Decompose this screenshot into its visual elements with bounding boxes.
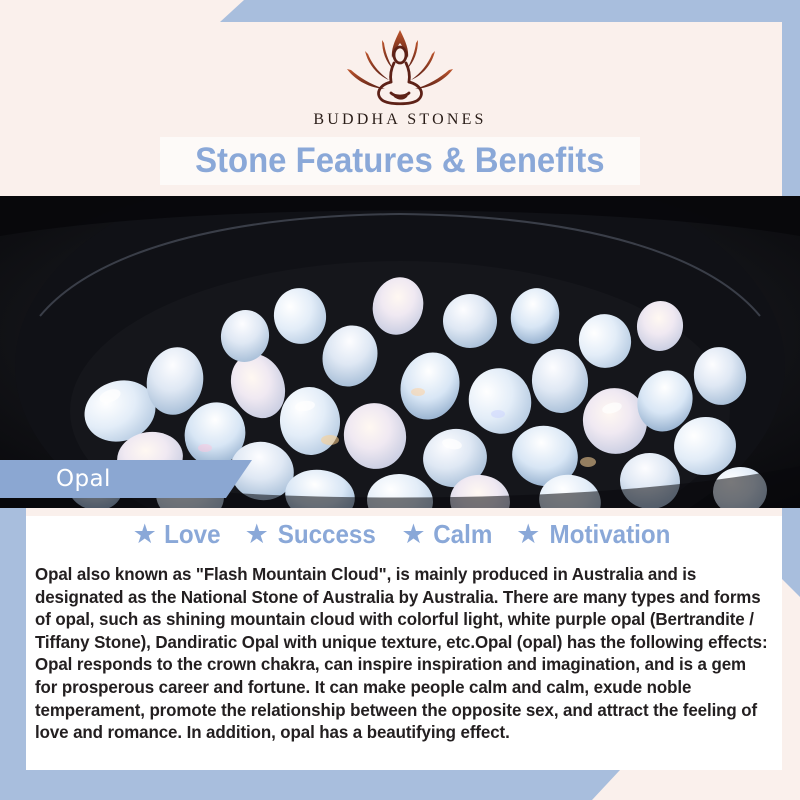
description-text: Opal also known as "Flash Mountain Cloud… [35,563,769,744]
content-top-tint [26,508,782,516]
benefit-item: ★ Calm [401,519,494,550]
stone-name-badge: Opal [0,460,252,498]
stone-photo: Opal [0,196,800,508]
benefits-row: ★ Love ★ Success ★ Calm ★ Motivation [26,519,782,550]
star-icon: ★ [245,521,269,548]
star-icon: ★ [401,521,425,548]
stone-name-label: Opal [56,466,111,492]
title-band: Stone Features & Benefits [160,137,640,185]
benefit-item: ★ Love [133,519,223,550]
benefit-item: ★ Success [245,519,380,550]
benefit-label: Calm [433,519,492,550]
star-icon: ★ [516,521,540,548]
lotus-meditation-figure-icon [335,22,465,110]
benefit-item: ★ Motivation [516,519,675,550]
page-title: Stone Features & Benefits [195,141,605,181]
benefit-label: Motivation [550,519,671,550]
decor-left-strip-lower [0,492,26,770]
page-header: BUDDHA STONES Stone Features & Benefits [0,0,800,196]
benefit-label: Success [277,519,375,550]
brand-name: BUDDHA STONES [313,111,486,129]
star-icon: ★ [133,521,157,548]
decor-bottom-bar [0,770,620,800]
benefit-label: Love [164,519,220,550]
